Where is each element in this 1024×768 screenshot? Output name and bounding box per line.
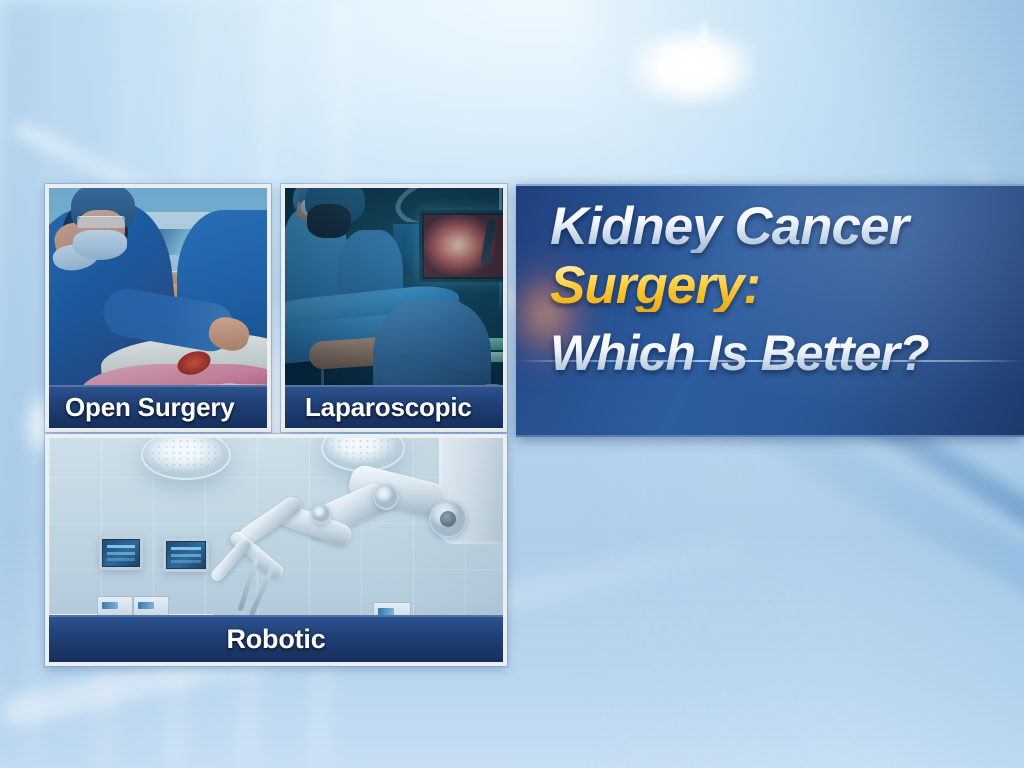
- title-line-1: Kidney Cancer: [550, 200, 1024, 253]
- card-label-bar-open-surgery: Open Surgery: [49, 385, 267, 428]
- photo-card-open-surgery[interactable]: Open Surgery: [45, 184, 271, 432]
- card-label-laparoscopic: Laparoscopic: [285, 392, 472, 423]
- graphic-canvas: Open Surgery: [0, 0, 1024, 768]
- title-line-2: Surgery:: [550, 259, 1024, 312]
- title-line-3: Which Is Better?: [550, 328, 1024, 378]
- card-label-bar-robotic: Robotic: [49, 615, 503, 662]
- photo-card-robotic[interactable]: Robotic: [45, 434, 507, 666]
- card-label-bar-laparoscopic: Laparoscopic: [285, 385, 503, 428]
- title-text-block: Kidney Cancer Surgery: Which Is Better?: [516, 186, 1024, 378]
- card-label-robotic: Robotic: [226, 624, 325, 655]
- card-label-open-surgery: Open Surgery: [49, 392, 235, 423]
- title-panel: Kidney Cancer Surgery: Which Is Better?: [516, 184, 1024, 437]
- photo-card-laparoscopic[interactable]: Laparoscopic: [281, 184, 507, 432]
